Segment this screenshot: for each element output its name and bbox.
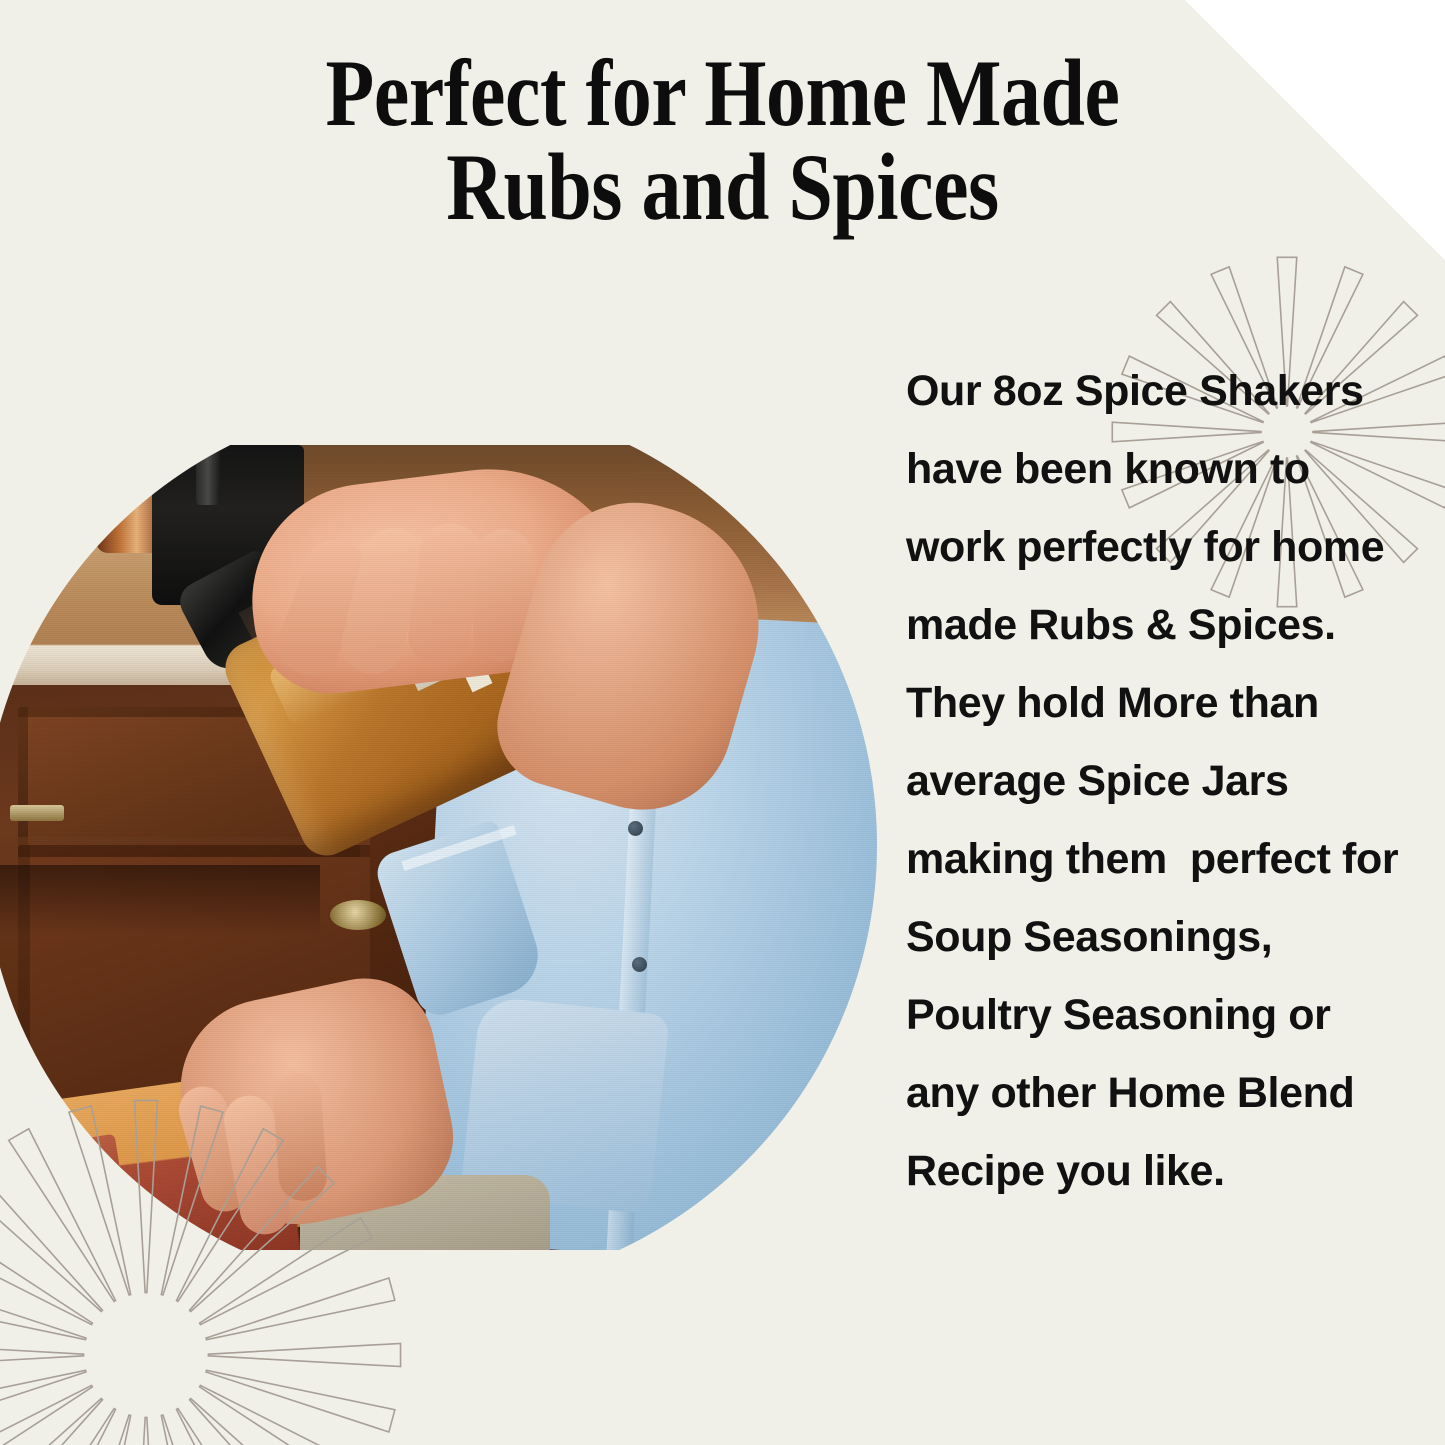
page-title-line-1: Perfect for Home Made	[166, 46, 1279, 140]
infographic-canvas: Perfect for Home Made Rubs and Spices Ou…	[0, 0, 1445, 1445]
page-title-line-2: Rubs and Spices	[166, 140, 1279, 234]
product-photo-image	[0, 445, 880, 1250]
product-description: Our 8oz Spice Shakers have been known to…	[906, 352, 1406, 1210]
product-photo	[0, 445, 880, 1250]
spice-jar-left-icon	[22, 445, 90, 545]
page-title: Perfect for Home Made Rubs and Spices	[0, 46, 1445, 234]
photo-grain-overlay	[0, 445, 880, 1250]
